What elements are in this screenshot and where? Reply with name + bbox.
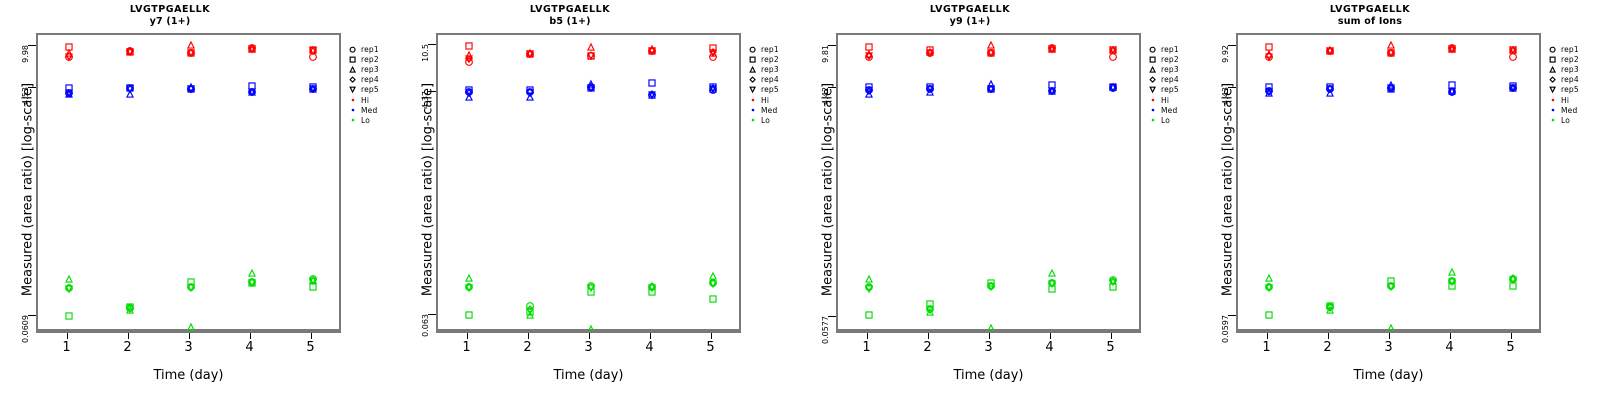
- data-point-lo-rep3-day5: [1508, 274, 1516, 282]
- dot-icon: [347, 95, 358, 105]
- data-point-hi-rep1-day1: [64, 53, 73, 62]
- data-point-lo-rep1-day3: [1386, 281, 1395, 290]
- x-tick-mark: [250, 333, 251, 339]
- legend-item-rep2[interactable]: rep2: [347, 54, 379, 64]
- data-point-lo-rep1-day4: [647, 282, 656, 291]
- data-point-hi-rep1-day5: [708, 52, 717, 61]
- data-point-hi-rep5-day2: [925, 49, 933, 57]
- data-point-hi-rep3-day2: [925, 48, 933, 56]
- data-point-hi-rep4-day2: [1325, 47, 1333, 55]
- data-point-lo-rep5-day4: [1447, 278, 1455, 286]
- legend-item-label: rep5: [361, 85, 379, 94]
- data-point-med-rep3-day3: [186, 83, 194, 91]
- data-point-lo-rep4-day5: [308, 276, 316, 284]
- x-axis-label: Time (day): [36, 368, 341, 383]
- data-point-med-rep1-day3: [186, 84, 195, 93]
- data-point-med-rep2-day5: [1108, 82, 1116, 90]
- data-point-lo-rep1-day5: [1108, 275, 1117, 284]
- legend-item-med[interactable]: Med: [347, 105, 379, 115]
- panel-title-group: LVGTPGAELLKsum of Ions: [1200, 4, 1540, 28]
- legend: rep1rep2rep3rep4rep5HiMedLo: [1147, 44, 1179, 126]
- x-tick-mark: [67, 333, 68, 339]
- data-point-lo-rep4-day3: [186, 282, 194, 290]
- data-point-med-rep1-day4: [1447, 87, 1456, 96]
- data-point-lo-rep5-day3: [986, 283, 994, 291]
- dot-icon: [347, 115, 358, 125]
- data-point-hi-rep2-day4: [1047, 45, 1055, 53]
- data-point-lo-rep2-day5: [1508, 281, 1516, 289]
- data-point-med-rep1-day2: [125, 84, 134, 93]
- data-point-hi-rep1-day4: [647, 47, 656, 56]
- data-point-hi-rep3-day5: [1108, 46, 1116, 54]
- data-point-med-rep2-day5: [308, 82, 316, 90]
- x-tick-label: 5: [696, 340, 726, 355]
- data-point-lo-rep4-day1: [464, 283, 472, 291]
- plot-area: [36, 33, 341, 331]
- x-tick-mark: [311, 333, 312, 339]
- data-point-hi-rep3-day2: [1325, 46, 1333, 54]
- data-point-hi-rep4-day1: [64, 52, 72, 60]
- data-point-lo-rep2-day2: [125, 302, 133, 310]
- data-point-lo-rep5-day5: [708, 280, 716, 288]
- data-point-lo-rep4-day1: [864, 283, 872, 291]
- legend-item-rep4[interactable]: rep4: [747, 75, 779, 85]
- legend-item-hi[interactable]: Hi: [747, 95, 779, 105]
- legend-item-rep5[interactable]: rep5: [1547, 85, 1579, 95]
- data-point-hi-rep1-day1: [1264, 53, 1273, 62]
- data-point-hi-rep1-day4: [1447, 43, 1456, 52]
- legend-item-label: Hi: [1561, 96, 1569, 105]
- data-point-med-rep5-day1: [864, 87, 872, 95]
- data-point-hi-rep3-day1: [864, 50, 872, 58]
- data-point-med-rep2-day5: [708, 83, 716, 91]
- data-point-lo-rep3-day2: [525, 311, 533, 319]
- data-point-lo-rep1-day2: [1325, 302, 1334, 311]
- data-point-med-rep4-day1: [1264, 87, 1272, 95]
- data-point-hi-rep3-day4: [1047, 44, 1055, 52]
- triangle-up-icon: [347, 64, 358, 74]
- data-point-lo-rep2-day1: [64, 312, 72, 320]
- legend-item-rep5[interactable]: rep5: [347, 85, 379, 95]
- data-point-hi-rep2-day5: [1108, 46, 1116, 54]
- data-point-med-rep1-day4: [1047, 87, 1056, 96]
- data-point-med-rep4-day4: [1447, 87, 1455, 95]
- plot-area: [1236, 33, 1541, 331]
- data-point-lo-rep2-day4: [1447, 281, 1455, 289]
- panel-title: LVGTPGAELLK: [0, 4, 340, 16]
- x-tick-mark: [467, 333, 468, 339]
- data-point-med-rep1-day1: [464, 88, 473, 97]
- data-point-hi-rep5-day5: [1508, 46, 1516, 54]
- data-point-lo-rep4-day3: [586, 283, 594, 291]
- data-point-hi-rep2-day4: [247, 45, 255, 53]
- data-point-med-rep5-day2: [925, 85, 933, 93]
- data-point-hi-rep1-day3: [586, 51, 595, 60]
- data-point-med-rep1-day2: [525, 88, 534, 97]
- legend-item-rep1[interactable]: rep1: [347, 44, 379, 54]
- data-point-lo-rep5-day5: [1508, 276, 1516, 284]
- data-point-med-rep4-day3: [186, 85, 194, 93]
- data-point-med-rep5-day2: [1325, 85, 1333, 93]
- data-point-lo-rep3-day1: [64, 275, 72, 283]
- data-point-med-rep3-day1: [464, 92, 472, 100]
- legend-item-label: rep4: [761, 75, 779, 84]
- data-point-med-rep2-day4: [247, 82, 255, 90]
- legend-item-rep3[interactable]: rep3: [1547, 64, 1579, 74]
- data-point-lo-rep1-day5: [708, 279, 717, 288]
- data-point-lo-rep5-day2: [925, 306, 933, 314]
- data-point-lo-rep5-day3: [1386, 282, 1394, 290]
- legend-item-rep1[interactable]: rep1: [1547, 44, 1579, 54]
- data-point-lo-rep4-day1: [1264, 283, 1272, 291]
- data-point-hi-rep4-day4: [1047, 44, 1055, 52]
- data-point-lo-rep2-day3: [186, 278, 194, 286]
- data-point-lo-rep1-day2: [525, 302, 534, 311]
- circle-icon: [747, 44, 758, 54]
- data-point-hi-rep1-day1: [864, 53, 873, 62]
- data-point-hi-rep2-day3: [186, 49, 194, 57]
- legend-item-label: Lo: [1161, 116, 1170, 125]
- legend-item-label: rep1: [1161, 45, 1179, 54]
- data-point-med-rep5-day4: [1047, 87, 1055, 95]
- triangle-up-icon: [747, 64, 758, 74]
- data-point-med-rep3-day5: [708, 85, 716, 93]
- legend-item-label: Hi: [1161, 96, 1169, 105]
- data-point-med-rep3-day2: [925, 87, 933, 95]
- legend-item-rep2[interactable]: rep2: [1147, 54, 1179, 64]
- data-point-med-rep5-day3: [586, 84, 594, 92]
- data-point-hi-rep1-day5: [1508, 52, 1517, 61]
- data-point-hi-rep3-day1: [1264, 50, 1272, 58]
- data-point-hi-rep1-day3: [186, 49, 195, 58]
- plot-area: [436, 33, 741, 331]
- data-point-lo-rep4-day2: [1325, 303, 1333, 311]
- x-tick-label: 2: [1313, 340, 1343, 355]
- data-point-hi-rep5-day3: [586, 51, 594, 59]
- data-point-lo-rep3-day5: [708, 272, 716, 280]
- data-point-hi-rep1-day2: [1325, 47, 1334, 56]
- data-point-lo-rep5-day2: [525, 307, 533, 315]
- legend-item-rep4[interactable]: rep4: [1147, 75, 1179, 85]
- data-point-hi-rep3-day3: [586, 43, 594, 51]
- data-point-med-rep2-day3: [986, 85, 994, 93]
- legend-item-label: rep5: [761, 85, 779, 94]
- data-point-med-rep2-day3: [1386, 84, 1394, 92]
- data-point-hi-rep2-day1: [64, 43, 72, 51]
- data-point-hi-rep5-day3: [186, 49, 194, 57]
- data-point-med-rep3-day1: [1264, 89, 1272, 97]
- panel-subtitle: sum of Ions: [1200, 16, 1540, 28]
- data-point-lo-rep5-day1: [464, 284, 472, 292]
- data-point-hi-rep4-day4: [647, 47, 655, 55]
- legend-item-label: Lo: [1561, 116, 1570, 125]
- legend-item-rep3[interactable]: rep3: [347, 64, 379, 74]
- data-point-med-rep5-day4: [1447, 87, 1455, 95]
- legend-item-med[interactable]: Med: [747, 105, 779, 115]
- data-point-hi-rep2-day2: [1325, 47, 1333, 55]
- dot-icon: [1147, 115, 1158, 125]
- x-tick-label: 3: [574, 340, 604, 355]
- legend-item-label: Lo: [761, 116, 770, 125]
- data-point-med-rep5-day1: [64, 89, 72, 97]
- data-point-hi-rep1-day2: [525, 49, 534, 58]
- square-icon: [1547, 54, 1558, 64]
- data-point-lo-rep3-day4: [1447, 268, 1455, 276]
- dot-icon: [1547, 115, 1558, 125]
- data-point-lo-rep1-day3: [986, 281, 995, 290]
- data-point-lo-rep5-day2: [125, 305, 133, 313]
- data-point-med-rep5-day1: [1264, 87, 1272, 95]
- data-point-lo-rep3-day2: [925, 308, 933, 316]
- data-point-lo-rep5-day1: [64, 285, 72, 293]
- data-point-hi-rep3-day5: [708, 48, 716, 56]
- x-tick-mark: [528, 333, 529, 339]
- data-point-med-rep3-day1: [864, 89, 872, 97]
- data-point-hi-rep5-day5: [308, 46, 316, 54]
- data-point-hi-rep4-day3: [586, 51, 594, 59]
- data-point-med-rep4-day3: [986, 84, 994, 92]
- chart-panel-2: LVGTPGAELLKb5 (1+)Measured (area ratio) …: [400, 0, 800, 400]
- data-point-hi-rep2-day5: [1508, 46, 1516, 54]
- data-point-med-rep1-day3: [1386, 84, 1395, 93]
- multi-panel-scatter-figure: LVGTPGAELLKy7 (1+)Measured (area ratio) …: [0, 0, 1600, 400]
- data-point-hi-rep3-day2: [525, 49, 533, 57]
- legend-item-lo[interactable]: Lo: [1147, 115, 1179, 125]
- data-point-hi-rep5-day4: [247, 45, 255, 53]
- data-point-med-rep5-day4: [647, 91, 655, 99]
- legend-item-hi[interactable]: Hi: [347, 95, 379, 105]
- legend-item-label: rep5: [1161, 85, 1179, 94]
- data-point-lo-rep2-day2: [525, 308, 533, 316]
- data-point-hi-rep2-day3: [1386, 49, 1394, 57]
- data-point-hi-rep2-day2: [525, 50, 533, 58]
- data-point-lo-rep5-day3: [586, 284, 594, 292]
- data-point-lo-rep3-day1: [1264, 274, 1272, 282]
- legend-item-label: rep1: [1561, 45, 1579, 54]
- data-point-hi-rep1-day4: [1047, 44, 1056, 53]
- data-point-lo-rep2-day3: [586, 288, 594, 296]
- legend-item-rep4[interactable]: rep4: [347, 75, 379, 85]
- data-point-hi-rep5-day5: [708, 48, 716, 56]
- panel-subtitle: y7 (1+): [0, 16, 340, 28]
- y-axis-label: Measured (area ratio) [log-scale]: [821, 70, 836, 310]
- panel-subtitle: y9 (1+): [800, 16, 1140, 28]
- data-point-lo-rep5-day5: [308, 277, 316, 285]
- legend-item-label: rep2: [1161, 55, 1179, 64]
- legend-item-rep2[interactable]: rep2: [747, 54, 779, 64]
- data-point-med-rep5-day1: [464, 89, 472, 97]
- legend-item-med[interactable]: Med: [1547, 105, 1579, 115]
- data-point-med-rep5-day4: [247, 88, 255, 96]
- data-point-hi-rep2-day1: [1264, 43, 1272, 51]
- data-point-med-rep5-day5: [1508, 84, 1516, 92]
- data-point-hi-rep5-day1: [1264, 52, 1272, 60]
- data-point-med-rep2-day3: [186, 85, 194, 93]
- data-point-hi-rep3-day3: [1386, 41, 1394, 49]
- data-point-lo-rep1-day2: [125, 304, 134, 313]
- x-tick-mark: [1450, 333, 1451, 339]
- data-point-hi-rep4-day3: [186, 49, 194, 57]
- data-point-lo-rep4-day1: [64, 284, 72, 292]
- data-point-hi-rep4-day1: [464, 54, 472, 62]
- x-tick-mark: [589, 333, 590, 339]
- data-point-lo-rep5-day1: [864, 284, 872, 292]
- data-point-lo-rep3-day2: [125, 305, 133, 313]
- y-axis-label: Measured (area ratio) [log-scale]: [1221, 70, 1236, 310]
- data-point-lo-rep5-day2: [1325, 304, 1333, 312]
- triangle-down-icon: [747, 85, 758, 95]
- data-point-med-rep5-day5: [1108, 84, 1116, 92]
- legend: rep1rep2rep3rep4rep5HiMedLo: [1547, 44, 1579, 126]
- data-point-med-rep4-day4: [1047, 87, 1055, 95]
- data-point-lo-rep1-day4: [1047, 278, 1056, 287]
- data-point-lo-rep2-day5: [708, 295, 716, 303]
- data-point-lo-rep1-day5: [1508, 275, 1517, 284]
- legend-item-label: rep1: [361, 45, 379, 54]
- chart-panel-3: LVGTPGAELLKy9 (1+)Measured (area ratio) …: [800, 0, 1200, 400]
- data-point-hi-rep1-day5: [308, 53, 317, 62]
- data-point-hi-rep3-day1: [64, 49, 72, 57]
- data-point-lo-rep1-day3: [186, 282, 195, 291]
- data-point-med-rep4-day2: [525, 88, 533, 96]
- legend-item-hi[interactable]: Hi: [1547, 95, 1579, 105]
- legend-item-rep4[interactable]: rep4: [1547, 75, 1579, 85]
- legend-item-lo[interactable]: Lo: [1547, 115, 1579, 125]
- data-point-med-rep4-day4: [247, 87, 255, 95]
- data-point-hi-rep2-day3: [986, 48, 994, 56]
- data-point-med-rep2-day1: [64, 84, 72, 92]
- panel-subtitle: b5 (1+): [400, 16, 740, 28]
- data-point-lo-rep2-day2: [1325, 301, 1333, 309]
- data-point-lo-rep3-day5: [308, 276, 316, 284]
- data-point-hi-rep5-day3: [1386, 49, 1394, 57]
- data-point-lo-rep4-day4: [1447, 277, 1455, 285]
- data-point-lo-rep2-day1: [864, 311, 872, 319]
- x-tick-label: 1: [452, 340, 482, 355]
- triangle-up-icon: [1147, 64, 1158, 74]
- legend-item-rep5[interactable]: rep5: [747, 85, 779, 95]
- data-point-med-rep4-day5: [308, 84, 316, 92]
- x-tick-mark: [928, 333, 929, 339]
- data-point-lo-rep4-day3: [1386, 281, 1394, 289]
- data-point-hi-rep1-day2: [925, 49, 934, 58]
- data-point-lo-rep2-day4: [1047, 284, 1055, 292]
- data-point-med-rep3-day1: [64, 90, 72, 98]
- legend-item-hi[interactable]: Hi: [1147, 95, 1179, 105]
- legend-item-label: Hi: [761, 96, 769, 105]
- data-point-hi-rep5-day2: [525, 50, 533, 58]
- legend-item-label: rep5: [1561, 85, 1579, 94]
- data-point-hi-rep4-day3: [986, 49, 994, 57]
- legend-item-rep1[interactable]: rep1: [1147, 44, 1179, 54]
- data-point-med-rep3-day2: [525, 92, 533, 100]
- data-point-hi-rep5-day4: [1047, 45, 1055, 53]
- data-point-med-rep4-day1: [464, 89, 472, 97]
- legend-item-rep2[interactable]: rep2: [1547, 54, 1579, 64]
- x-tick-label: 5: [1096, 340, 1126, 355]
- data-point-lo-rep3-day1: [864, 275, 872, 283]
- data-point-med-rep1-day3: [586, 83, 595, 92]
- data-point-med-rep4-day3: [586, 83, 594, 91]
- triangle-up-icon: [1547, 64, 1558, 74]
- data-point-lo-rep1-day3: [586, 282, 595, 291]
- legend-item-lo[interactable]: Lo: [747, 115, 779, 125]
- panel-title: LVGTPGAELLK: [1200, 4, 1540, 16]
- data-point-med-rep4-day1: [864, 86, 872, 94]
- x-tick-mark: [1111, 333, 1112, 339]
- data-point-med-rep1-day5: [1108, 83, 1117, 92]
- data-point-hi-rep2-day1: [864, 43, 872, 51]
- data-point-hi-rep3-day1: [464, 51, 472, 59]
- data-point-med-rep3-day4: [1047, 87, 1055, 95]
- data-point-lo-rep2-day5: [1108, 283, 1116, 291]
- data-point-med-rep4-day5: [1508, 83, 1516, 91]
- data-point-med-rep5-day3: [1386, 84, 1394, 92]
- data-point-hi-rep5-day4: [1447, 45, 1455, 53]
- plot-area: [836, 33, 1141, 331]
- data-point-hi-rep1-day4: [247, 44, 256, 53]
- legend-item-label: rep4: [1161, 75, 1179, 84]
- diamond-icon: [747, 75, 758, 85]
- x-tick-mark: [1050, 333, 1051, 339]
- data-point-hi-rep2-day2: [925, 46, 933, 54]
- data-point-lo-rep2-day4: [247, 279, 255, 287]
- legend-item-rep3[interactable]: rep3: [747, 64, 779, 74]
- data-point-med-rep1-day4: [247, 88, 256, 97]
- data-point-med-rep1-day5: [1508, 83, 1517, 92]
- legend-item-label: rep2: [761, 55, 779, 64]
- legend-item-label: Hi: [361, 96, 369, 105]
- data-point-med-rep2-day4: [1447, 81, 1455, 89]
- x-tick-label: 5: [1496, 340, 1526, 355]
- data-point-med-rep5-day5: [708, 85, 716, 93]
- legend-item-lo[interactable]: Lo: [347, 115, 379, 125]
- data-point-med-rep3-day2: [1325, 89, 1333, 97]
- legend-item-rep3[interactable]: rep3: [1147, 64, 1179, 74]
- data-point-hi-rep2-day4: [1447, 45, 1455, 53]
- square-icon: [347, 54, 358, 64]
- data-point-lo-rep5-day4: [647, 284, 655, 292]
- data-point-med-rep4-day2: [925, 84, 933, 92]
- data-point-med-rep3-day4: [647, 90, 655, 98]
- data-point-med-rep5-day3: [186, 85, 194, 93]
- data-point-lo-rep2-day4: [647, 288, 655, 296]
- data-point-lo-rep4-day2: [125, 304, 133, 312]
- legend-item-rep1[interactable]: rep1: [747, 44, 779, 54]
- data-point-med-rep1-day2: [1325, 84, 1334, 93]
- x-axis-label: Time (day): [436, 368, 741, 383]
- x-tick-label: 1: [52, 340, 82, 355]
- data-point-lo-rep2-day2: [925, 300, 933, 308]
- legend-item-rep5[interactable]: rep5: [1147, 85, 1179, 95]
- data-point-lo-rep5-day5: [1108, 278, 1116, 286]
- x-tick-mark: [128, 333, 129, 339]
- data-point-med-rep3-day4: [1447, 87, 1455, 95]
- data-point-hi-rep3-day3: [986, 41, 994, 49]
- data-point-med-rep2-day4: [1047, 80, 1055, 88]
- data-point-hi-rep4-day2: [125, 47, 133, 55]
- triangle-down-icon: [1547, 85, 1558, 95]
- data-point-lo-rep4-day2: [525, 305, 533, 313]
- legend-item-label: Med: [761, 106, 777, 115]
- legend-item-med[interactable]: Med: [1147, 105, 1179, 115]
- legend-item-label: rep3: [361, 65, 379, 74]
- data-point-hi-rep3-day5: [308, 46, 316, 54]
- x-tick-label: 2: [513, 340, 543, 355]
- data-point-hi-rep3-day2: [125, 46, 133, 54]
- data-point-med-rep1-day1: [1264, 86, 1273, 95]
- data-point-med-rep2-day2: [525, 86, 533, 94]
